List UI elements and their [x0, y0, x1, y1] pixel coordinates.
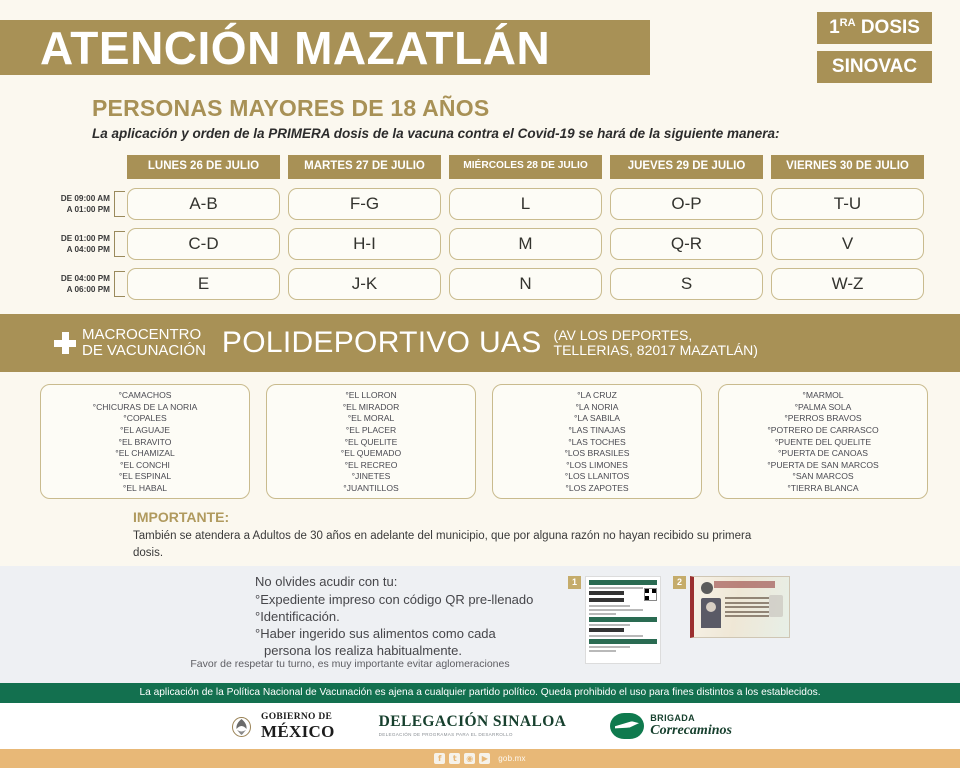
locality-item: °EL MORAL — [271, 413, 471, 425]
locality-item: °EL ESPINAL — [45, 471, 245, 483]
locality-item: °LA NORIA — [497, 402, 697, 414]
schedule-row-morning: DE 09:00 AM A 01:00 PM A-B F-G L O-P T-U — [40, 188, 924, 220]
schedule-header-row: LUNES 26 DE JULIO MARTES 27 DE JULIO MIÉ… — [40, 154, 924, 180]
doc-line — [589, 650, 616, 652]
delegacion-title: DELEGACIÓN SINALOA — [379, 714, 567, 730]
id-ghost-photo — [769, 595, 783, 617]
ine-id-card-image — [690, 576, 790, 638]
instruction-item: persona los realiza habitualmente. — [255, 642, 560, 659]
doc-line — [589, 613, 616, 615]
locality-item: °SAN MARCOS — [723, 471, 923, 483]
time-label-morning: DE 09:00 AM A 01:00 PM — [40, 193, 114, 215]
id-seal-icon — [701, 582, 713, 594]
title-banner: ATENCIÓN MAZATLÁN — [0, 20, 650, 75]
page-title: ATENCIÓN MAZATLÁN — [0, 25, 550, 71]
locality-item: °TIERRA BLANCA — [723, 483, 923, 495]
subtitle-section: PERSONAS MAYORES DE 18 AÑOS La aplicació… — [0, 92, 960, 142]
locality-item: °COPALES — [45, 413, 245, 425]
slot-cell: F-G — [288, 188, 441, 220]
turn-respect-note: Favor de respetar tu turno, es muy impor… — [0, 658, 700, 670]
schedule-description: La aplicación y orden de la PRIMERA dosi… — [92, 127, 960, 142]
bracket-morning — [114, 191, 125, 217]
locality-columns: °CAMACHOS °CHICURAS DE LA NORIA °COPALES… — [0, 372, 960, 499]
locality-item: °JINETES — [271, 471, 471, 483]
slot-cells-afternoon: C-D H-I M Q-R V — [127, 228, 924, 260]
doc-header-bar — [589, 617, 657, 622]
doc-header-bar — [589, 580, 657, 585]
gobierno-line2: MÉXICO — [261, 723, 335, 740]
time-to-evening: A 06:00 PM — [40, 284, 110, 295]
twitter-icon[interactable]: t — [449, 753, 460, 764]
slot-cell: J-K — [288, 268, 441, 300]
locality-item: °PUERTA DE CANOAS — [723, 448, 923, 460]
logo-footer: GOBIERNO DE MÉXICO DELEGACIÓN SINALOA DE… — [0, 703, 960, 749]
venue-name: POLIDEPORTIVO UAS — [222, 326, 542, 360]
schedule-row-evening: DE 04:00 PM A 06:00 PM E J-K N S W-Z — [40, 268, 924, 300]
doc-line — [589, 587, 643, 589]
locality-item: °EL BRAVITO — [45, 437, 245, 449]
thumbnail-identificacion: 2 — [673, 576, 790, 664]
slot-cell: A-B — [127, 188, 280, 220]
locality-item: °LOS ZAPOTES — [497, 483, 697, 495]
facebook-icon[interactable]: f — [434, 753, 445, 764]
time-from-afternoon: DE 01:00 PM — [40, 233, 110, 244]
time-from-evening: DE 04:00 PM — [40, 273, 110, 284]
locality-item: °EL AGUAJE — [45, 425, 245, 437]
day-header-martes: MARTES 27 DE JULIO — [288, 155, 441, 179]
instruction-item: °Haber ingerido sus alimentos como cada — [255, 625, 560, 642]
doc-line — [589, 609, 643, 611]
time-to-morning: A 01:00 PM — [40, 204, 110, 215]
locality-item: °CHICURAS DE LA NORIA — [45, 402, 245, 414]
important-title: IMPORTANTE: — [133, 509, 960, 526]
audience-heading: PERSONAS MAYORES DE 18 AÑOS — [92, 96, 960, 121]
qr-code-icon — [644, 588, 657, 601]
slot-cell: V — [771, 228, 924, 260]
time-label-afternoon: DE 01:00 PM A 04:00 PM — [40, 233, 114, 255]
dose-number: 1 — [829, 17, 840, 38]
locality-box: °MARMOL °PALMA SOLA °PERROS BRAVOS °POTR… — [718, 384, 928, 499]
locality-item: °EL QUEMADO — [271, 448, 471, 460]
locality-box: °LA CRUZ °LA NORIA °LA SABILA °LAS TINAJ… — [492, 384, 702, 499]
locality-item: °EL HABAL — [45, 483, 245, 495]
id-card-header — [714, 581, 775, 588]
id-line — [725, 602, 769, 604]
instructions-panel: No olvides acudir con tu: °Expediente im… — [0, 566, 960, 683]
macrocentro-label: MACROCENTRO DE VACUNACIÓN — [82, 327, 206, 359]
id-text-lines — [725, 597, 769, 620]
time-to-afternoon: A 04:00 PM — [40, 244, 110, 255]
doc-line — [589, 646, 630, 648]
id-line — [725, 597, 769, 599]
slot-cell: E — [127, 268, 280, 300]
slot-cell: S — [610, 268, 763, 300]
slot-cells-evening: E J-K N S W-Z — [127, 268, 924, 300]
doc-block — [589, 591, 624, 595]
locality-item: °EL PLACER — [271, 425, 471, 437]
locality-item: °LA SABILA — [497, 413, 697, 425]
brigada-text-block: BRIGADA Correcaminos — [650, 714, 732, 738]
id-line — [725, 606, 769, 608]
gobierno-mexico-logo: GOBIERNO DE MÉXICO — [228, 712, 335, 739]
day-header-lunes: LUNES 26 DE JULIO — [127, 155, 280, 179]
locality-item: °PUENTE DEL QUELITE — [723, 437, 923, 449]
slot-cell: T-U — [771, 188, 924, 220]
doc-line — [589, 635, 643, 637]
political-disclaimer-banner: La aplicación de la Política Nacional de… — [0, 683, 960, 703]
instagram-icon[interactable]: ◉ — [464, 753, 475, 764]
day-header-miercoles: MIÉRCOLES 28 DE JULIO — [449, 155, 602, 179]
dose-word: DOSIS — [861, 17, 920, 38]
slot-cell: M — [449, 228, 602, 260]
instructions-panel-inner: No olvides acudir con tu: °Expediente im… — [0, 566, 960, 664]
locality-box: °EL LLORON °EL MIRADOR °EL MORAL °EL PLA… — [266, 384, 476, 499]
time-label-evening: DE 04:00 PM A 06:00 PM — [40, 273, 114, 295]
locality-box: °CAMACHOS °CHICURAS DE LA NORIA °COPALES… — [40, 384, 250, 499]
roadrunner-icon — [610, 713, 644, 739]
bracket-afternoon — [114, 231, 125, 257]
document-thumbnails: 1 — [560, 574, 790, 664]
thumbnail-expediente: 1 — [568, 576, 661, 664]
expediente-document-image — [585, 576, 661, 664]
id-line — [725, 611, 769, 613]
id-line — [725, 615, 769, 617]
doc-block — [589, 628, 624, 632]
delegacion-sinaloa-logo: DELEGACIÓN SINALOA DELEGACIÓN DE PROGRAM… — [379, 714, 567, 737]
schedule-table: LUNES 26 DE JULIO MARTES 27 DE JULIO MIÉ… — [0, 154, 960, 300]
doc-line — [589, 624, 630, 626]
locality-item: °EL RECREO — [271, 460, 471, 472]
schedule-row-afternoon: DE 01:00 PM A 04:00 PM C-D H-I M Q-R V — [40, 228, 924, 260]
instruction-item: °Identificación. — [255, 608, 560, 625]
locality-item: °POTRERO DE CARRASCO — [723, 425, 923, 437]
doc-header-bar — [589, 639, 657, 644]
slot-cell: Q-R — [610, 228, 763, 260]
dose-ordinal-suffix: RA — [840, 17, 856, 29]
macrocentro-label-line2: DE VACUNACIÓN — [82, 343, 206, 359]
locality-item: °LAS TOCHES — [497, 437, 697, 449]
locality-item: °LOS BRASILES — [497, 448, 697, 460]
locality-item: °EL QUELITE — [271, 437, 471, 449]
locality-item: °CAMACHOS — [45, 390, 245, 402]
important-section: IMPORTANTE: También se atendera a Adulto… — [0, 499, 960, 561]
locality-item: °PERROS BRAVOS — [723, 413, 923, 425]
plus-icon — [54, 332, 76, 354]
important-text: También se atendera a Adultos de 30 años… — [133, 528, 758, 561]
delegacion-text-block: DELEGACIÓN SINALOA DELEGACIÓN DE PROGRAM… — [379, 714, 567, 737]
locality-item: °PUERTA DE SAN MARCOS — [723, 460, 923, 472]
slot-cell: H-I — [288, 228, 441, 260]
doc-line — [589, 605, 630, 607]
slot-cells-morning: A-B F-G L O-P T-U — [127, 188, 924, 220]
vaccine-brand-badge: SINOVAC — [817, 51, 932, 83]
slot-cell: C-D — [127, 228, 280, 260]
day-header-cells: LUNES 26 DE JULIO MARTES 27 DE JULIO MIÉ… — [127, 155, 924, 179]
slot-cell: L — [449, 188, 602, 220]
macrocentro-banner: MACROCENTRO DE VACUNACIÓN POLIDEPORTIVO … — [0, 314, 960, 372]
slot-cell: W-Z — [771, 268, 924, 300]
id-photo — [701, 598, 721, 628]
brigada-line2: Correcaminos — [650, 724, 732, 738]
instruction-item: °Expediente impreso con código QR pre-ll… — [255, 591, 560, 608]
eagle-icon — [228, 713, 255, 740]
gobierno-mexico-text: GOBIERNO DE MÉXICO — [261, 712, 335, 739]
locality-item: °EL CONCHI — [45, 460, 245, 472]
thumbnail-number-badge: 1 — [568, 576, 581, 589]
locality-item: °LAS TINAJAS — [497, 425, 697, 437]
venue-address: (AV LOS DEPORTES, TELLERIAS, 82017 MAZAT… — [554, 328, 769, 359]
thumbnail-number-badge: 2 — [673, 576, 686, 589]
page-header: ATENCIÓN MAZATLÁN 1RA DOSIS SINOVAC — [0, 0, 960, 92]
instructions-text-block: No olvides acudir con tu: °Expediente im… — [0, 574, 560, 664]
locality-item: °JUANTILLOS — [271, 483, 471, 495]
locality-item: °EL MIRADOR — [271, 402, 471, 414]
bracket-evening — [114, 271, 125, 297]
youtube-icon[interactable]: ▶ — [479, 753, 490, 764]
dose-number-badge: 1RA DOSIS — [817, 12, 932, 44]
dose-badge-group: 1RA DOSIS SINOVAC — [817, 12, 932, 83]
locality-item: °EL CHAMIZAL — [45, 448, 245, 460]
slot-cell: N — [449, 268, 602, 300]
brigada-correcaminos-logo: BRIGADA Correcaminos — [610, 713, 732, 739]
locality-item: °LA CRUZ — [497, 390, 697, 402]
time-from-morning: DE 09:00 AM — [40, 193, 110, 204]
instructions-heading: No olvides acudir con tu: — [255, 574, 560, 591]
locality-item: °MARMOL — [723, 390, 923, 402]
macrocentro-label-line1: MACROCENTRO — [82, 327, 206, 343]
delegacion-subtitle: DELEGACIÓN DE PROGRAMAS PARA EL DESARROL… — [379, 733, 567, 738]
day-header-jueves: JUEVES 29 DE JULIO — [610, 155, 763, 179]
locality-item: °PALMA SOLA — [723, 402, 923, 414]
social-media-bar: f t ◉ ▶ gob.mx — [0, 749, 960, 768]
locality-item: °EL LLORON — [271, 390, 471, 402]
doc-block — [589, 598, 624, 602]
slot-cell: O-P — [610, 188, 763, 220]
gobmx-website-label[interactable]: gob.mx — [498, 754, 525, 763]
day-header-viernes: VIERNES 30 DE JULIO — [771, 155, 924, 179]
locality-item: °LOS LLANITOS — [497, 471, 697, 483]
locality-item: °LOS LIMONES — [497, 460, 697, 472]
